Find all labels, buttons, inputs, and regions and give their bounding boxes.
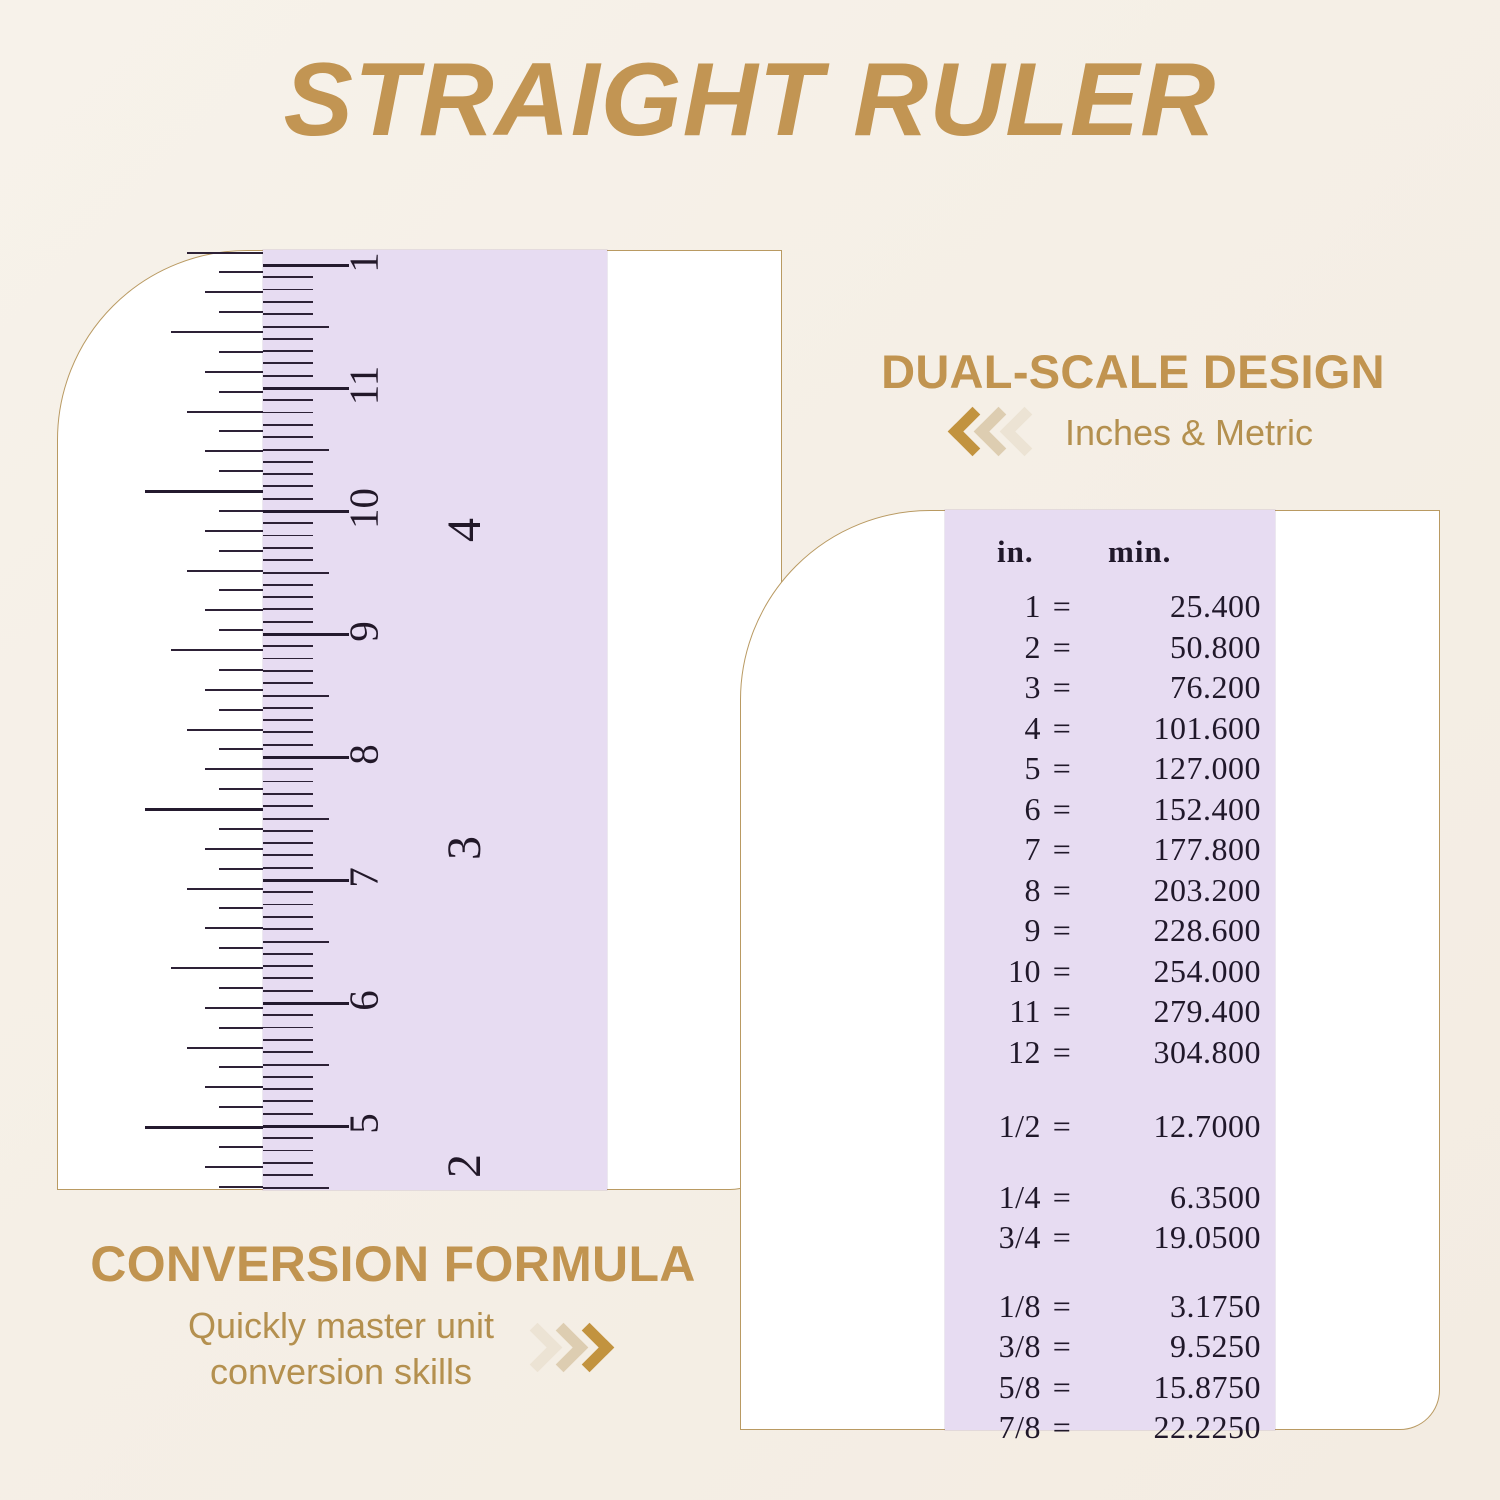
ruler-tick-minor [263, 1088, 313, 1090]
conversion-row-mm: 254.000 [1069, 953, 1261, 990]
ruler-tick-minor [263, 854, 313, 856]
conversion-formula-subtitle: Quickly master unit conversion skills [188, 1303, 494, 1395]
conversion-row-mm: 203.200 [1069, 872, 1261, 909]
conversion-row-mm: 304.800 [1069, 1034, 1261, 1071]
conversion-row-mm: 12.7000 [1069, 1108, 1261, 1145]
ruler-tick-minor [263, 473, 313, 475]
conversion-row-mm: 9.5250 [1069, 1328, 1261, 1365]
ruler-metric-label: 1 [344, 240, 385, 286]
ruler-tick-minor [263, 350, 313, 352]
conversion-row-inches: 7 [955, 831, 1041, 868]
ruler-tick-minor [263, 436, 313, 438]
ruler-tick-minor [263, 842, 313, 844]
ruler-tick-minor [263, 793, 313, 795]
ruler-tick-minor [219, 470, 263, 472]
conversion-row-inches: 6 [955, 791, 1041, 828]
ruler-tick-minor [205, 371, 263, 373]
ruler-tick-major [263, 879, 349, 882]
conversion-row-inches: 10 [955, 953, 1041, 990]
ruler-tick-minor [219, 669, 263, 671]
ruler-tick-minor [263, 1137, 313, 1139]
ruler-tick-minor [263, 965, 313, 967]
ruler-tick-half [263, 695, 329, 697]
conversion-row-inches: 3 [955, 669, 1041, 706]
conversion-row: 3/4=19.0500 [945, 1219, 1275, 1256]
ruler-tick-minor [219, 629, 263, 631]
ruler-tick-minor [263, 301, 313, 303]
ruler-tick-major [263, 264, 349, 267]
ruler-inch-label: 2 [441, 1138, 489, 1194]
ruler-tick-minor [263, 867, 313, 869]
ruler-tick-minor [263, 990, 313, 992]
ruler-tick-minor [263, 719, 313, 721]
ruler-tick-minor [263, 768, 313, 770]
page-title: STRAIGHT RULER [0, 48, 1500, 152]
ruler-tick-minor [263, 1027, 313, 1029]
ruler-tick-minor [263, 621, 313, 623]
conversion-row: 1/8=3.1750 [945, 1288, 1275, 1325]
ruler-tick-minor [219, 987, 263, 989]
conversion-row-mm: 152.400 [1069, 791, 1261, 828]
ruler-tick-minor [205, 450, 263, 452]
conversion-row: 3=76.200 [945, 669, 1275, 706]
ruler-tick-minor [187, 888, 263, 890]
ruler-tick-half [263, 1187, 329, 1189]
ruler-tick-minor [205, 768, 263, 770]
ruler-tick-minor [263, 547, 313, 549]
ruler-tick-minor [263, 596, 313, 598]
conversion-row: 4=101.600 [945, 710, 1275, 747]
conversion-row-mm: 177.800 [1069, 831, 1261, 868]
ruler-tick-minor [219, 271, 263, 273]
ruler-tick-minor [205, 291, 263, 293]
ruler-tick-minor [263, 485, 313, 487]
ruler-tick-minor [263, 461, 313, 463]
ruler-tick-minor [263, 399, 313, 401]
conversion-row-mm: 3.1750 [1069, 1288, 1261, 1325]
conversion-row: 8=203.200 [945, 872, 1275, 909]
dual-scale-row: Inches & Metric [833, 410, 1433, 456]
chevron-left-icon [1005, 410, 1031, 456]
ruler-tick-minor [219, 1106, 263, 1108]
ruler-tick-minor [263, 670, 313, 672]
ruler-tick-minor [219, 1027, 263, 1029]
chevron-right-icon [572, 1326, 598, 1372]
conversion-row-mm: 101.600 [1069, 710, 1261, 747]
ruler-tick-minor [263, 904, 313, 906]
ruler-tick-minor [219, 1186, 263, 1188]
ruler-tick-minor [263, 559, 313, 561]
ruler-tick-minor [205, 927, 263, 929]
ruler-tick-minor [263, 928, 313, 930]
ruler-tick-minor [263, 1174, 313, 1176]
chevron-right-group [520, 1326, 598, 1372]
conversion-row-inches: 1 [955, 588, 1041, 625]
ruler-tick-minor [187, 729, 263, 731]
ruler-tick-minor [219, 947, 263, 949]
ruler-tick-major [263, 756, 349, 759]
conversion-row-inches: 3/8 [955, 1328, 1041, 1365]
ruler-tick-half [263, 326, 329, 328]
conversion-ruler-strip: in. min. 1=25.4002=50.8003=76.2004=101.6… [945, 510, 1275, 1430]
ruler-tick-minor [187, 411, 263, 413]
dual-scale-subtitle: Inches & Metric [1065, 410, 1313, 456]
ruler-tick-minor [263, 522, 313, 524]
conversion-subtitle-line1: Quickly master unit [188, 1303, 494, 1349]
ruler-tick-major [263, 1002, 349, 1005]
ruler-tick-minor [219, 391, 263, 393]
conversion-row: 1/2=12.7000 [945, 1108, 1275, 1145]
ruler-tick-minor [263, 1076, 313, 1078]
conversion-row-mm: 279.400 [1069, 993, 1261, 1030]
conversion-row-inches: 1/8 [955, 1288, 1041, 1325]
ruler-tick-minor [263, 1014, 313, 1016]
ruler-tick-minor [263, 584, 313, 586]
ruler-tick-minor [263, 1113, 313, 1115]
ruler-tick-minor [205, 1086, 263, 1088]
conversion-row-inches: 12 [955, 1034, 1041, 1071]
ruler-tick-minor [263, 338, 313, 340]
ruler-tick-minor [263, 535, 313, 537]
ruler-tick-half [263, 818, 329, 820]
conversion-row-inches: 1/2 [955, 1108, 1041, 1145]
ruler-tick-minor [263, 977, 313, 979]
ruler-tick-minor [263, 645, 313, 647]
column-header-mm: min. [1108, 534, 1171, 570]
ruler-tick-minor [263, 1039, 313, 1041]
conversion-row: 9=228.600 [945, 912, 1275, 949]
conversion-formula-row: Quickly master unit conversion skills [48, 1303, 738, 1395]
ruler-tick-minor [263, 891, 313, 893]
conversion-subtitle-line2: conversion skills [188, 1349, 494, 1395]
ruler-tick-major [263, 1125, 349, 1128]
conversion-row: 3/8=9.5250 [945, 1328, 1275, 1365]
vertical-ruler: 1111098765 432 [263, 250, 607, 1190]
ruler-tick-minor [263, 1100, 313, 1102]
ruler-tick-minor [219, 828, 263, 830]
conversion-row: 6=152.400 [945, 791, 1275, 828]
dual-scale-title: DUAL-SCALE DESIGN [833, 347, 1433, 396]
ruler-tick-minor [263, 744, 313, 746]
conversion-row-inches: 8 [955, 872, 1041, 909]
conversion-table: in. min. 1=25.4002=50.8003=76.2004=101.6… [945, 510, 1275, 1430]
ruler-tick-minor [205, 609, 263, 611]
ruler-tick-half [263, 941, 329, 943]
ruler-tick-minor [263, 424, 313, 426]
ruler-tick-half [263, 1064, 329, 1066]
conversion-row-mm: 22.2250 [1069, 1409, 1261, 1446]
ruler-tick-minor [263, 830, 313, 832]
ruler-tick-major [263, 633, 349, 636]
ruler-tick-minor [219, 709, 263, 711]
ruler-tick-minor [219, 311, 263, 313]
ruler-tick-minor [219, 1066, 263, 1068]
ruler-tick-minor [187, 252, 263, 254]
ruler-tick-minor [263, 916, 313, 918]
ruler-tick-minor [263, 805, 313, 807]
ruler-tick-minor [263, 289, 313, 291]
ruler-tick-minor [219, 907, 263, 909]
conversion-row-inches: 9 [955, 912, 1041, 949]
ruler-tick-minor [219, 589, 263, 591]
ruler-tick-minor [263, 608, 313, 610]
ruler-tick-minor [263, 375, 313, 377]
ruler-inch-label: 3 [441, 820, 489, 876]
chevron-left-group [953, 410, 1031, 456]
ruler-tick-minor [263, 498, 313, 500]
conversion-row-mm: 228.600 [1069, 912, 1261, 949]
conversion-row: 7=177.800 [945, 831, 1275, 868]
conversion-row: 5/8=15.8750 [945, 1369, 1275, 1406]
ruler-tick-minor [205, 530, 263, 532]
ruler-tick-minor [219, 1146, 263, 1148]
ruler-tick-minor [205, 1007, 263, 1009]
conversion-row-mm: 50.800 [1069, 629, 1261, 666]
conversion-row-mm: 6.3500 [1069, 1179, 1261, 1216]
ruler-tick-minor [263, 781, 313, 783]
ruler-tick-minor [263, 731, 313, 733]
ruler-metric-label: 7 [344, 855, 385, 901]
conversion-row: 7/8=22.2250 [945, 1409, 1275, 1446]
conversion-row-mm: 19.0500 [1069, 1219, 1261, 1256]
ruler-tick-minor [219, 550, 263, 552]
ruler-tick-minor [263, 658, 313, 660]
ruler-tick-minor [263, 362, 313, 364]
feature-dual-scale: DUAL-SCALE DESIGN Inches & Metric [833, 347, 1433, 456]
ruler-tick-minor [187, 1047, 263, 1049]
ruler-inch-label: 4 [441, 502, 489, 558]
ruler-metric-label: 9 [344, 609, 385, 655]
conversion-row-inches: 11 [955, 993, 1041, 1030]
ruler-tick-minor [263, 1150, 313, 1152]
ruler-tick-minor [219, 868, 263, 870]
ruler-tick-minor [263, 276, 313, 278]
conversion-row-mm: 25.400 [1069, 588, 1261, 625]
ruler-metric-label: 5 [344, 1101, 385, 1147]
ruler-tick-major [263, 510, 349, 513]
ruler-tick-minor [171, 331, 263, 333]
ruler-tick-minor [187, 570, 263, 572]
ruler-tick-minor [219, 788, 263, 790]
ruler-tick-minor [171, 649, 263, 651]
conversion-row: 2=50.800 [945, 629, 1275, 666]
ruler-metric-label: 6 [344, 978, 385, 1024]
conversion-row: 5=127.000 [945, 750, 1275, 787]
conversion-row: 1/4=6.3500 [945, 1179, 1275, 1216]
conversion-row-mm: 15.8750 [1069, 1369, 1261, 1406]
ruler-tick-minor [263, 682, 313, 684]
ruler-tick-major [145, 490, 263, 493]
conversion-row-inches: 5 [955, 750, 1041, 787]
ruler-tick-minor [263, 953, 313, 955]
conversion-row: 12=304.800 [945, 1034, 1275, 1071]
conversion-row-inches: 1/4 [955, 1179, 1041, 1216]
conversion-row-inches: 5/8 [955, 1369, 1041, 1406]
conversion-row-inches: 3/4 [955, 1219, 1041, 1256]
ruler-tick-half [263, 572, 329, 574]
ruler-metric-label: 10 [344, 486, 385, 532]
ruler-tick-major [145, 808, 263, 811]
ruler-tick-minor [205, 689, 263, 691]
ruler-tick-minor [205, 848, 263, 850]
column-header-inches: in. [997, 534, 1034, 570]
ruler-tick-minor [219, 510, 263, 512]
ruler-tick-minor [171, 967, 263, 969]
conversion-row-inches: 4 [955, 710, 1041, 747]
conversion-row-mm: 127.000 [1069, 750, 1261, 787]
ruler-tick-minor [263, 1162, 313, 1164]
conversion-row: 1=25.400 [945, 588, 1275, 625]
ruler-tick-minor [263, 1051, 313, 1053]
ruler-tick-minor [219, 351, 263, 353]
ruler-tick-half [263, 449, 329, 451]
feature-conversion-formula: CONVERSION FORMULA Quickly master unit c… [48, 1238, 738, 1395]
conversion-formula-title: CONVERSION FORMULA [48, 1238, 738, 1291]
conversion-row-inches: 2 [955, 629, 1041, 666]
ruler-tick-major [145, 1126, 263, 1129]
conversion-row-mm: 76.200 [1069, 669, 1261, 706]
ruler-tick-major [263, 387, 349, 390]
conversion-row-inches: 7/8 [955, 1409, 1041, 1446]
infographic-canvas: STRAIGHT RULER 1111098765 432 in. min. 1… [0, 0, 1500, 1500]
ruler-metric-label: 8 [344, 732, 385, 778]
ruler-tick-minor [263, 412, 313, 414]
ruler-tick-minor [263, 707, 313, 709]
ruler-metric-label: 11 [344, 363, 385, 409]
ruler-tick-minor [219, 748, 263, 750]
ruler-tick-minor [205, 1166, 263, 1168]
ruler-tick-minor [219, 430, 263, 432]
ruler-tick-minor [263, 313, 313, 315]
conversion-row: 11=279.400 [945, 993, 1275, 1030]
conversion-row: 10=254.000 [945, 953, 1275, 990]
